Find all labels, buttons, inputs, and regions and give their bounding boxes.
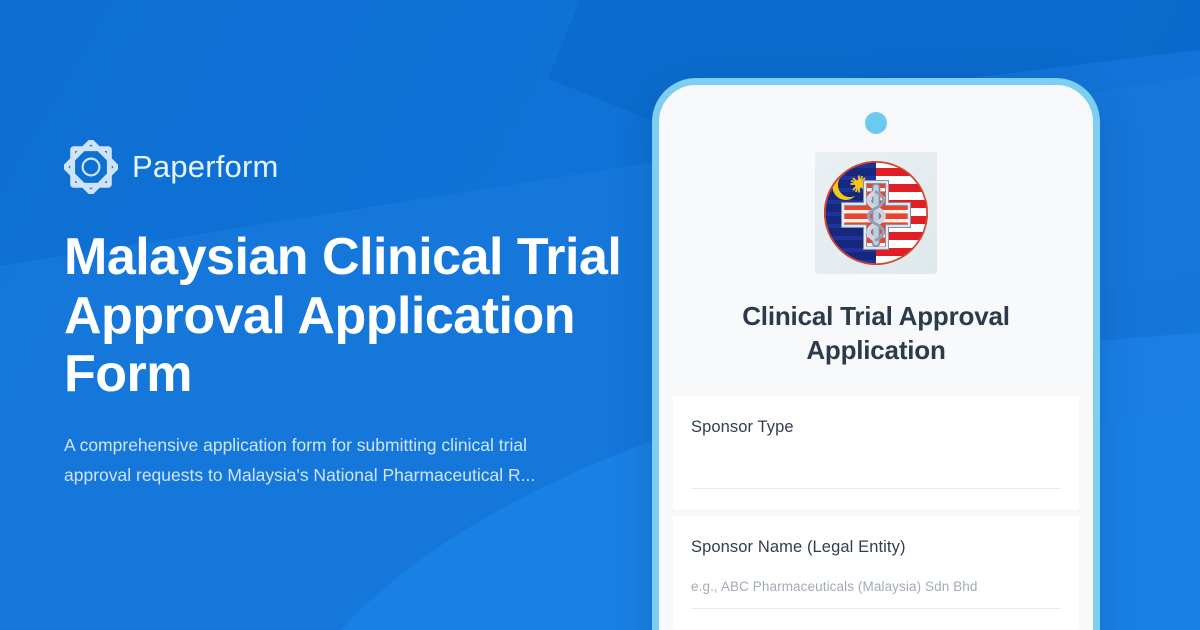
hero-panel: Paperform Malaysian Clinical Trial Appro… [64, 0, 664, 630]
brand-name: Paperform [132, 149, 279, 185]
form-header-image [815, 152, 937, 274]
field-input[interactable]: e.g., ABC Pharmaceuticals (Malaysia) Sdn… [691, 579, 1061, 609]
form-title: Clinical Trial Approval Application [697, 300, 1055, 368]
camera-dot-icon [865, 112, 887, 134]
paperform-logo-icon [64, 140, 118, 194]
form-field-sponsor-type[interactable]: Sponsor Type [673, 396, 1079, 509]
form-field-list: Sponsor Type Sponsor Name (Legal Entity)… [659, 396, 1093, 629]
field-input[interactable] [691, 459, 1061, 489]
field-placeholder [691, 459, 1061, 466]
field-label: Sponsor Name (Legal Entity) [691, 538, 1061, 557]
brand-lockup: Paperform [64, 140, 664, 194]
phone-mockup: Clinical Trial Approval Application Spon… [652, 78, 1100, 630]
form-field-sponsor-name[interactable]: Sponsor Name (Legal Entity) e.g., ABC Ph… [673, 516, 1079, 629]
field-placeholder: e.g., ABC Pharmaceuticals (Malaysia) Sdn… [691, 579, 1061, 601]
field-label: Sponsor Type [691, 418, 1061, 437]
page-description: A comprehensive application form for sub… [64, 430, 564, 490]
page-title: Malaysian Clinical Trial Approval Applic… [64, 228, 624, 404]
malaysia-medical-cross-emblem-icon [815, 152, 937, 274]
